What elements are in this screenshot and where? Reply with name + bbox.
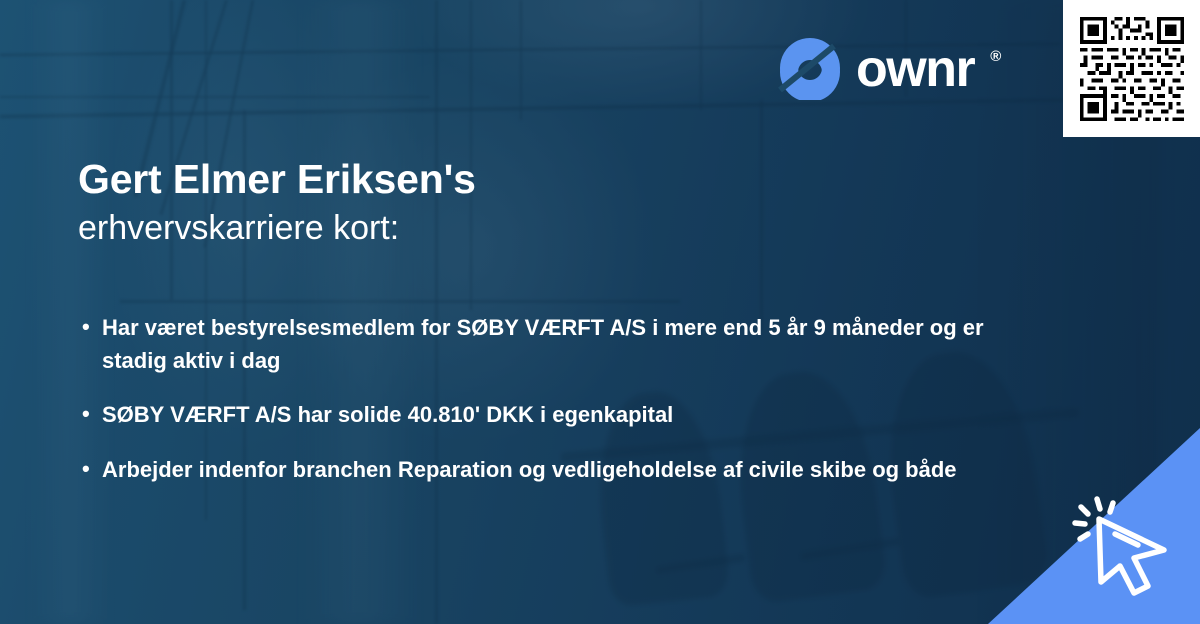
page-title: Gert Elmer Eriksen's	[78, 155, 978, 203]
career-facts-list: Har været bestyrelsesmedlem for SØBY VÆR…	[78, 312, 1028, 508]
ownr-circle-logo-icon	[778, 36, 842, 100]
list-item: Arbejder indenfor branchen Reparation og…	[78, 454, 1028, 487]
business-card: ownr ®	[0, 0, 1200, 624]
headline: Gert Elmer Eriksen's erhvervskarriere ko…	[78, 155, 978, 250]
registered-trademark-icon: ®	[990, 48, 1001, 65]
ownr-logo[interactable]: ownr ®	[778, 36, 1001, 100]
page-subtitle: erhvervskarriere kort:	[78, 207, 978, 250]
qr-code-icon[interactable]	[1063, 0, 1200, 137]
list-item: SØBY VÆRFT A/S har solide 40.810' DKK i …	[78, 399, 1028, 432]
click-cursor-icon	[1068, 490, 1178, 600]
ownr-wordmark: ownr	[856, 43, 974, 95]
list-item: Har været bestyrelsesmedlem for SØBY VÆR…	[78, 312, 1028, 377]
